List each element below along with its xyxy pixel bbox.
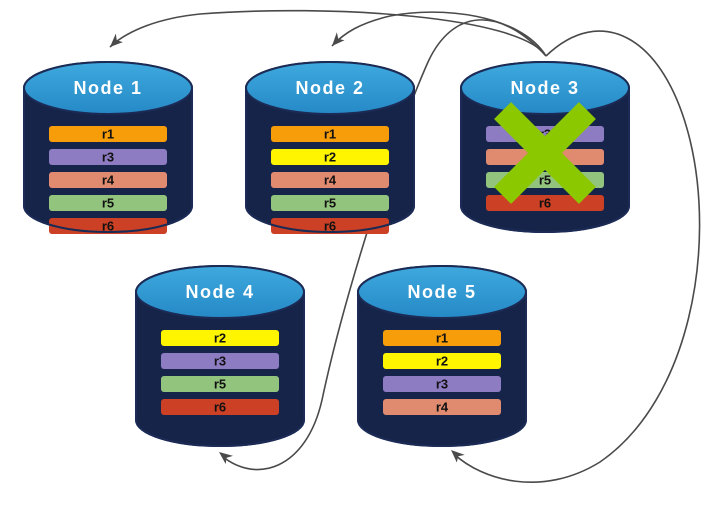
nodes-layer: Node 1r1r3r4r5r6Node 2r1r2r4r5r6Node 3r3… (24, 62, 629, 446)
record-label: r1 (102, 127, 114, 142)
database-node[interactable]: Node 1r1r3r4r5r6 (24, 62, 192, 234)
record-label: r5 (102, 196, 114, 211)
record-label: r5 (324, 196, 336, 211)
record-label: r4 (102, 173, 115, 188)
arrow-head-icon (327, 32, 344, 49)
record-label: r5 (539, 173, 551, 188)
arrow-head-icon (106, 34, 123, 51)
record-label: r2 (436, 354, 448, 369)
node-title: Node 2 (295, 78, 364, 98)
node-title: Node 1 (73, 78, 142, 98)
node-title: Node 4 (185, 282, 254, 302)
record-label: r2 (324, 150, 336, 165)
node-title: Node 3 (510, 78, 579, 98)
record-label: r6 (214, 400, 226, 415)
record-label: r3 (102, 150, 114, 165)
record-label: r1 (324, 127, 336, 142)
database-node[interactable]: Node 3r3r4r5r6 (461, 62, 629, 232)
node-title: Node 5 (407, 282, 476, 302)
record-label: r1 (436, 331, 448, 346)
record-label: r4 (324, 173, 337, 188)
database-node[interactable]: Node 5r1r2r3r4 (358, 266, 526, 446)
replication-diagram: Node 1r1r3r4r5r6Node 2r1r2r4r5r6Node 3r3… (0, 0, 708, 508)
record-label: r4 (436, 400, 449, 415)
record-label: r6 (539, 196, 551, 211)
record-label: r3 (436, 377, 448, 392)
record-label: r5 (214, 377, 226, 392)
database-node[interactable]: Node 4r2r3r5r6 (136, 266, 304, 446)
database-node[interactable]: Node 2r1r2r4r5r6 (246, 62, 414, 234)
record-label: r2 (214, 331, 226, 346)
record-label: r3 (214, 354, 226, 369)
